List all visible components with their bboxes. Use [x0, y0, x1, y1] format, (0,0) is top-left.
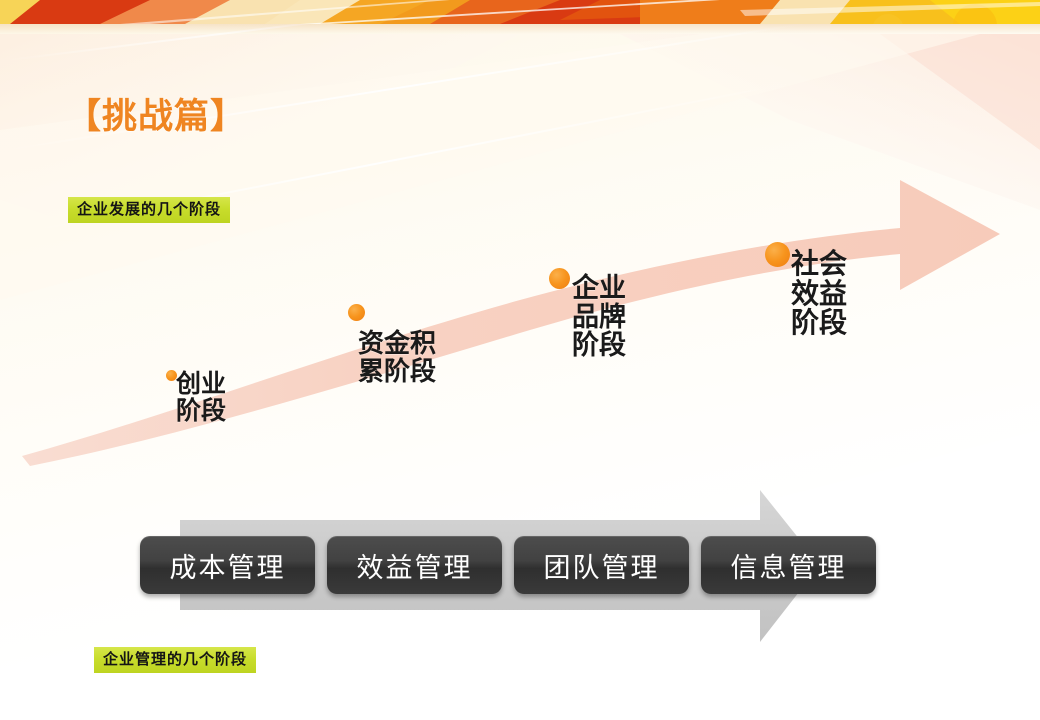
stage-dot-capital	[348, 304, 365, 321]
stage-dot-brand	[549, 268, 570, 289]
presentation-slide: 【挑战篇】 企业发展的几个阶段 创业 阶段 资金积 累阶段 企业 品牌 阶段 社…	[0, 0, 1040, 720]
decorative-ribbon-banner	[0, 0, 1040, 24]
stage-label-social: 社会 效益 阶段	[791, 249, 847, 338]
growth-curve-arrow	[0, 150, 1040, 480]
stage-label-capital: 资金积 累阶段	[358, 330, 436, 385]
management-button-row: 成本管理 效益管理 团队管理 信息管理	[140, 536, 876, 594]
stage-label-startup: 创业 阶段	[176, 371, 226, 424]
ribbon-shapes	[0, 0, 1040, 24]
page-title: 【挑战篇】	[66, 99, 246, 134]
management-button-information[interactable]: 信息管理	[701, 536, 876, 594]
management-button-cost[interactable]: 成本管理	[140, 536, 315, 594]
section-label-management: 企业管理的几个阶段	[94, 647, 256, 673]
banner-shadow	[0, 24, 1040, 34]
management-button-team[interactable]: 团队管理	[514, 536, 689, 594]
stage-dot-social	[765, 242, 790, 267]
management-button-benefit[interactable]: 效益管理	[327, 536, 502, 594]
stage-label-brand: 企业 品牌 阶段	[572, 274, 626, 360]
